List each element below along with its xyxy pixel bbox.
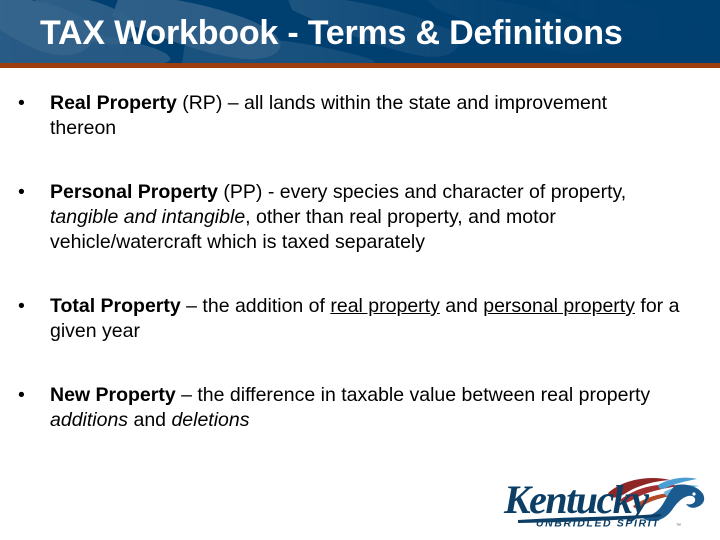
logo-wordmark: Kentucky: [503, 477, 649, 522]
bullet-text: Personal Property (PP) - every species a…: [50, 180, 698, 255]
logo-tagline: UNBRIDLED SPIRIT: [536, 518, 660, 530]
page-title: TAX Workbook - Terms & Definitions: [40, 13, 623, 53]
bullet-underline-personal-property: personal property: [483, 295, 635, 317]
bullet-item-real-property: • Real Property (RP) – all lands within …: [18, 91, 658, 141]
bullet-term: Total Property: [50, 295, 181, 317]
bullet-item-total-property: • Total Property – the addition of real …: [18, 294, 698, 344]
bullet-term: Personal Property: [50, 181, 218, 203]
bullet-marker-icon: •: [18, 383, 34, 408]
bullet-item-new-property: • New Property – the difference in taxab…: [18, 383, 718, 433]
bullet-marker-icon: •: [18, 294, 34, 319]
bullet-emphasis: tangible and intangible: [50, 206, 245, 228]
bullet-body: (PP) - every species and character of pr…: [218, 181, 626, 203]
slide-header: TAX Workbook - Terms & Definitions: [0, 0, 720, 63]
bullet-text: Total Property – the addition of real pr…: [50, 294, 698, 344]
bullet-body: – the addition of: [181, 295, 331, 317]
bullet-term: Real Property: [50, 92, 177, 114]
bullet-underline-real-property: real property: [330, 295, 439, 317]
bullet-item-personal-property: • Personal Property (PP) - every species…: [18, 180, 698, 255]
horse-eye-icon: [692, 492, 695, 495]
bullet-body-cont: and: [440, 295, 483, 317]
logo-trademark: ™: [676, 523, 681, 529]
bullet-term: New Property: [50, 384, 176, 406]
kentucky-unbridled-spirit-logo: Kentucky UNBRIDLED SPIRIT ™: [500, 473, 710, 535]
bullet-body-cont: and: [128, 409, 171, 431]
bullet-body: – the difference in taxable value betwee…: [176, 384, 650, 406]
svg-text:Kentucky: Kentucky: [503, 477, 649, 522]
bullet-marker-icon: •: [18, 91, 34, 116]
bullet-emphasis-deletions: deletions: [171, 409, 249, 431]
bullet-emphasis-additions: additions: [50, 409, 128, 431]
slide: TAX Workbook - Terms & Definitions • Rea…: [0, 0, 720, 540]
logo-artwork: Kentucky UNBRIDLED SPIRIT ™: [500, 473, 710, 535]
bullet-text: New Property – the difference in taxable…: [50, 383, 718, 433]
slide-body: • Real Property (RP) – all lands within …: [0, 68, 720, 468]
bullet-text: Real Property (RP) – all lands within th…: [50, 91, 658, 141]
bullet-marker-icon: •: [18, 180, 34, 205]
